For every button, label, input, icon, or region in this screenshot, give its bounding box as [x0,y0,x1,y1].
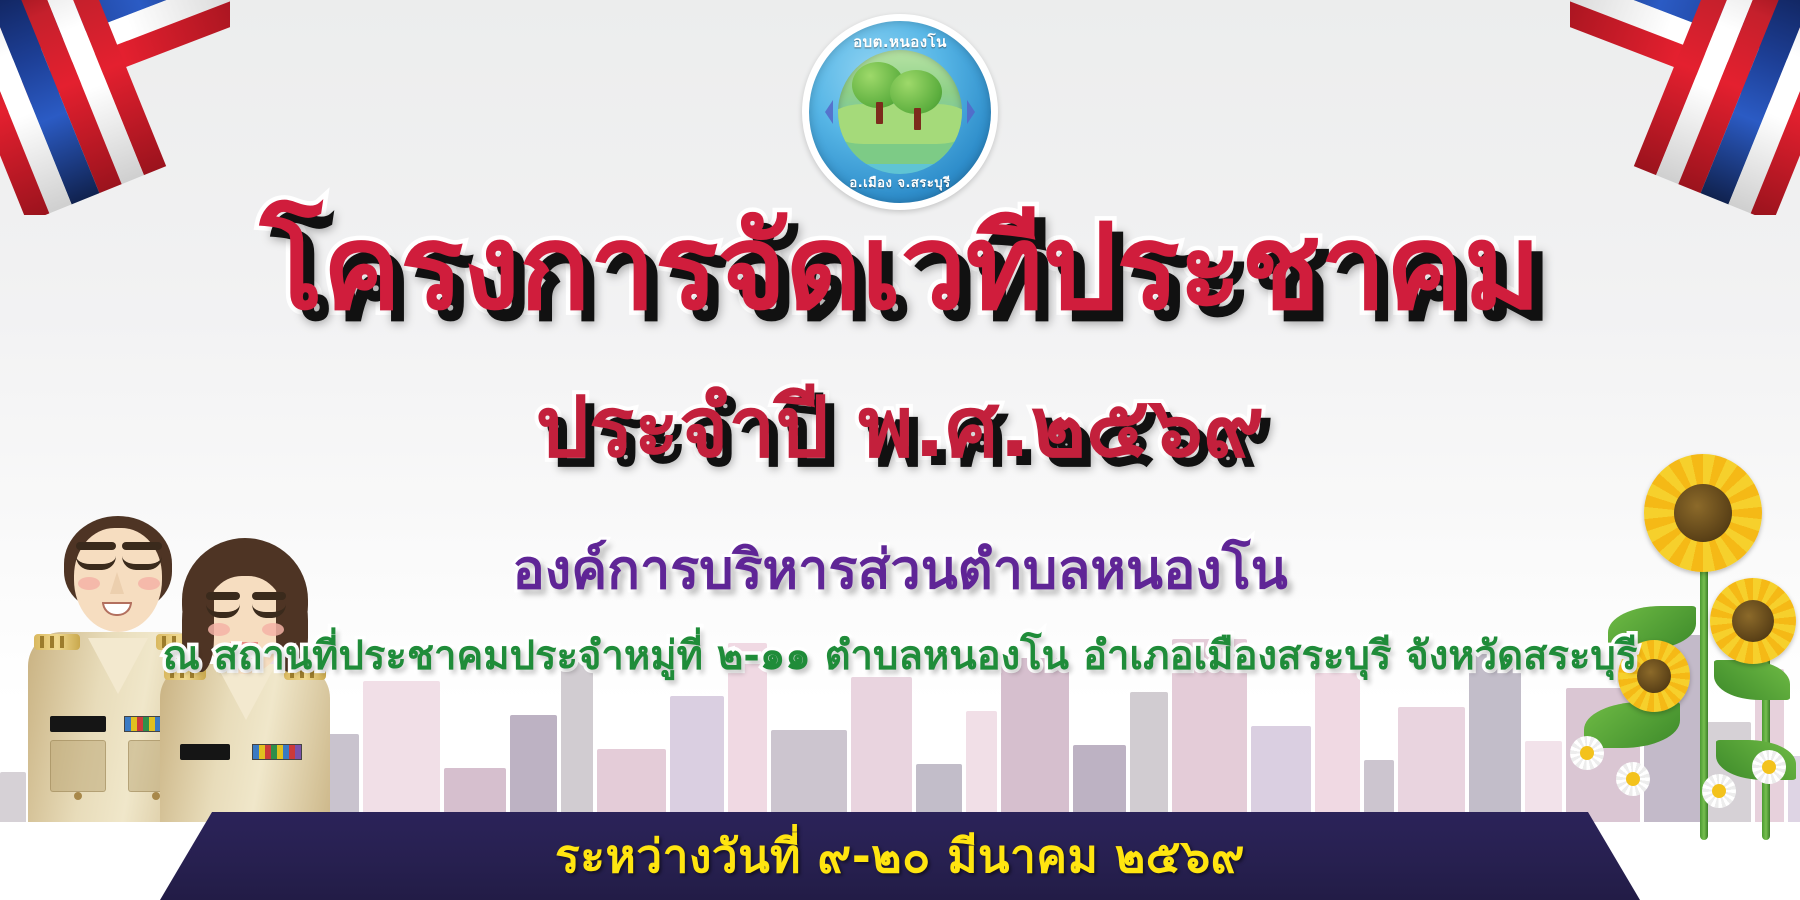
organization-emblem-logo: อบต.หนองโน อ.เมือง จ.สระบุรี [802,14,998,210]
skyline-building [1001,658,1069,822]
sunflower-illustration [1500,420,1800,840]
date-banner-bar: ระหว่างวันที่ ๙-๒๐ มีนาคม ๒๕๖๙ [160,812,1640,900]
skyline-building [363,681,440,822]
skyline-building [851,677,912,822]
daisy-flower [1616,762,1650,796]
skyline-building [1130,692,1168,822]
skyline-building [771,730,847,822]
event-banner: อบต.หนองโน อ.เมือง จ.สระบุรี [0,0,1800,900]
skyline-building [510,715,557,822]
thai-flag-ribbon-right [1570,0,1800,215]
skyline-building [1251,726,1311,822]
date-range-text: ระหว่างวันที่ ๙-๒๐ มีนาคม ๒๕๖๙ [555,820,1245,893]
skyline-building [966,711,997,822]
skyline-building [561,662,593,822]
skyline-building [1315,673,1360,822]
daisy-flower [1752,750,1786,784]
daisy-flower [1702,774,1736,808]
skyline-building [670,696,724,822]
emblem-bottom-text: อ.เมือง จ.สระบุรี [809,172,991,193]
skyline-building [597,749,666,822]
emblem-scene [838,50,962,174]
banner-title-line-2: ประจำปี พ.ศ.๒๕๖๙ [0,385,1800,469]
compass-star-left-icon [825,100,833,124]
venue-location-text: ณ สถานที่ประชาคมประจำหมู่ที่ ๒-๑๑ ตำบลหน… [0,636,1800,676]
emblem-ring: อบต.หนองโน อ.เมือง จ.สระบุรี [809,21,991,203]
thai-flag-ribbon-left [0,0,230,215]
skyline-building [1398,707,1465,822]
skyline-building [1073,745,1126,822]
banner-title-line-1: โครงการจัดเวทีประชาคม [0,208,1800,326]
compass-star-right-icon [967,100,975,124]
daisy-flower [1570,736,1604,770]
organization-name: องค์การบริหารส่วนตำบลหนองโน [0,543,1800,597]
